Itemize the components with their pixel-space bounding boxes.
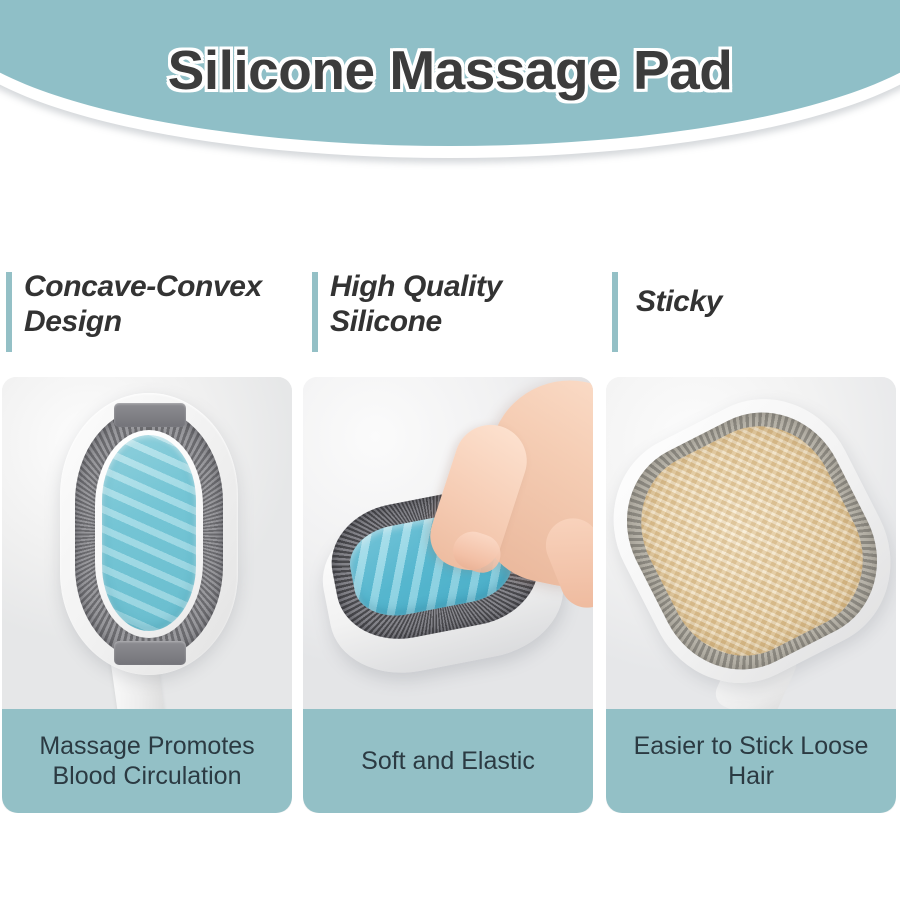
feature-heading-label-1: Concave-Convex Design [24, 262, 302, 339]
feature-heading-2: High Quality Silicone [312, 262, 608, 358]
accent-bar-icon [312, 272, 318, 352]
pad-clip-top [114, 403, 186, 427]
feature-headings: Concave-Convex Design High Quality Silic… [0, 262, 900, 362]
feature-panels: Massage Promotes Blood Circulation Soft … [0, 377, 900, 813]
feature-caption-1: Massage Promotes Blood Circulation [2, 709, 292, 813]
feature-panel-2: Soft and Elastic [303, 377, 593, 813]
feature-caption-2: Soft and Elastic [303, 709, 593, 813]
page-title: Silicone Massage Pad [0, 38, 900, 102]
feature-caption-3: Easier to Stick Loose Hair [606, 709, 896, 813]
feature-heading-label-3: Sticky [636, 262, 722, 319]
product-infographic: Silicone Massage Pad Concave-Convex Desi… [0, 0, 900, 900]
accent-bar-icon [612, 272, 618, 352]
silicone-pad-surface [102, 435, 196, 631]
feature-heading-1: Concave-Convex Design [6, 262, 302, 358]
pad-clip-bottom [114, 641, 186, 665]
product-photo-2 [303, 377, 593, 709]
product-photo-1 [2, 377, 292, 709]
feature-panel-1: Massage Promotes Blood Circulation [2, 377, 292, 813]
product-photo-3 [606, 377, 896, 709]
feature-panel-3: Easier to Stick Loose Hair [606, 377, 896, 813]
feature-heading-label-2: High Quality Silicone [330, 262, 608, 339]
accent-bar-icon [6, 272, 12, 352]
feature-heading-3: Sticky [612, 262, 900, 358]
